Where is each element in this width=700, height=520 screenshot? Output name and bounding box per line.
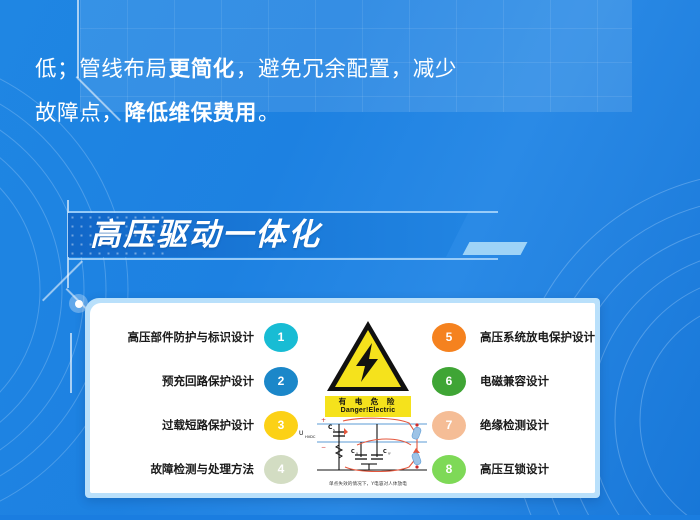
line2-highlight: 降低维保费用 (123, 91, 258, 135)
item-number-badge: 7 (432, 411, 466, 440)
item-number-badge: 8 (432, 455, 466, 484)
item-label: 故障检测与处理方法 (151, 461, 255, 477)
svg-text:s: s (333, 428, 335, 432)
list-item[interactable]: 6 电磁兼容设计 (432, 362, 595, 400)
illustration-group: 有 电 危 险 Danger!Electric + − U HVDC (297, 311, 437, 493)
item-number-badge: 4 (264, 455, 298, 484)
top-panel-text: 低；管线布局更简化，避免冗余配置，减少 故障点，降低维保费用。 (35, 47, 688, 135)
list-item[interactable]: 高压部件防护与标识设计 1 (98, 318, 298, 356)
right-item-column: 5 高压系统放电保护设计 6 电磁兼容设计 7 绝缘检测设计 8 高压互锁设计 (432, 315, 595, 491)
line1-after: ，避免冗余配置，减少 (236, 57, 457, 81)
list-item[interactable]: 预充回路保护设计 2 (98, 362, 298, 400)
item-label: 电磁兼容设计 (480, 373, 549, 389)
warning-triangle-icon (325, 319, 411, 393)
item-number-badge: 1 (264, 323, 298, 352)
line1-before: 低；管线布局 (35, 57, 168, 81)
svg-text:−: − (321, 444, 326, 451)
svg-text:C: C (351, 449, 355, 455)
section-title-text: 高压驱动一体化 (90, 215, 321, 255)
list-item[interactable]: 故障检测与处理方法 4 (98, 450, 298, 488)
left-item-column: 高压部件防护与标识设计 1 预充回路保护设计 2 过载短路保护设计 3 故障检测… (98, 315, 298, 491)
title-rule-bottom (68, 258, 498, 260)
warning-label-plate: 有 电 危 险 Danger!Electric (325, 396, 411, 417)
svg-text:HVDC: HVDC (305, 435, 316, 439)
item-label: 预充回路保护设计 (162, 373, 254, 389)
list-item[interactable]: 7 绝缘检测设计 (432, 406, 595, 444)
item-label: 过载短路保护设计 (162, 417, 254, 433)
svg-text:Y': Y' (388, 452, 391, 456)
list-item[interactable]: 8 高压互锁设计 (432, 450, 595, 488)
item-label: 高压互锁设计 (480, 461, 549, 477)
top-panel-line-1: 低；管线布局更简化，避免冗余配置，减少 (35, 47, 688, 91)
list-item[interactable]: 5 高压系统放电保护设计 (432, 318, 595, 356)
circuit-schematic-svg: + − U HVDC (299, 415, 437, 481)
line2-before: 故障点， (35, 101, 123, 125)
high-voltage-warning-sign: 有 电 危 险 Danger!Electric (321, 319, 415, 417)
svg-text:+: + (321, 417, 326, 424)
svg-text:U: U (299, 430, 303, 437)
item-number-badge: 3 (264, 411, 298, 440)
circuit-caption: 单点失效的情况下，Y电容对人体放电 (299, 481, 437, 487)
content-card-frame: 高压部件防护与标识设计 1 预充回路保护设计 2 过载短路保护设计 3 故障检测… (85, 298, 600, 498)
list-item[interactable]: 过载短路保护设计 3 (98, 406, 298, 444)
svg-text:C: C (383, 449, 387, 455)
item-number-badge: 6 (432, 367, 466, 396)
section-title-banner: 高压驱动一体化 (68, 207, 538, 263)
item-label: 高压部件防护与标识设计 (128, 329, 255, 345)
item-label: 高压系统放电保护设计 (480, 329, 595, 345)
warning-text-cn: 有 电 危 险 (325, 397, 411, 406)
content-card: 高压部件防护与标识设计 1 预充回路保护设计 2 过载短路保护设计 3 故障检测… (90, 303, 595, 493)
decor-vertical-line-lower (70, 333, 72, 393)
circuit-diagram: + − U HVDC (299, 415, 437, 487)
top-panel-line-2: 故障点，降低维保费用。 (35, 91, 688, 135)
line2-after: 。 (258, 101, 280, 125)
title-accent-parallelogram (463, 242, 528, 255)
item-label: 绝缘检测设计 (480, 417, 549, 433)
item-number-badge: 2 (264, 367, 298, 396)
line1-highlight: 更简化 (168, 47, 236, 91)
warning-text-en: Danger!Electric (325, 406, 411, 415)
item-number-badge: 5 (432, 323, 466, 352)
